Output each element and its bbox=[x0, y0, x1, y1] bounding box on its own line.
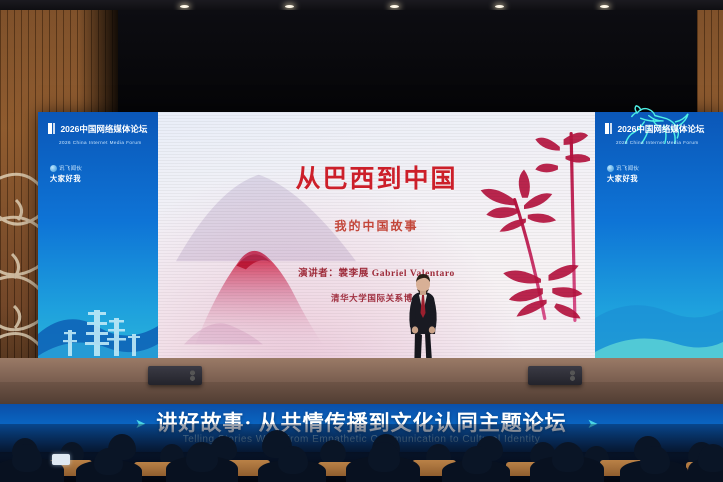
led-panel-left bbox=[38, 112, 158, 400]
led-screen: 从巴西到中国 我的中国故事 演讲者：裳李展 Gabriel Valentaro … bbox=[38, 112, 723, 400]
forum-logo-title-en: 2026 China Internet Media Forum bbox=[59, 140, 147, 145]
stage-monitor-right bbox=[528, 366, 582, 385]
slide-presenter-line: 演讲者：裳李展 Gabriel Valentaro bbox=[158, 265, 595, 279]
screenshot-root: 从巴西到中国 我的中国故事 演讲者：裳李展 Gabriel Valentaro … bbox=[0, 0, 723, 482]
slide-affiliation-line: 清华大学国际关系博士 bbox=[158, 292, 595, 304]
spotlight bbox=[180, 5, 189, 8]
sponsor-logo-right: 讯飞闻伙 大家好我 bbox=[607, 164, 639, 184]
forum-logo-title-cn: 2026中国网络媒体论坛 bbox=[60, 124, 147, 134]
sponsor-line1: 讯飞闻伙 bbox=[616, 164, 639, 172]
monitor-grill bbox=[567, 369, 578, 382]
forum-logo-title-cn: 2026中国网络媒体论坛 bbox=[617, 124, 704, 134]
forum-logo-right: 2026中国网络媒体论坛 2026 China Internet Media F… bbox=[605, 120, 704, 145]
audience-head bbox=[278, 446, 308, 474]
forum-logo-title-en: 2026 China Internet Media Forum bbox=[616, 140, 704, 145]
led-panel-right bbox=[595, 112, 723, 400]
spotlight bbox=[495, 5, 504, 8]
sponsor-line2: 大家好我 bbox=[50, 174, 82, 184]
audience-phone-screen bbox=[52, 454, 70, 465]
audience-head bbox=[320, 440, 346, 464]
audience-head bbox=[94, 448, 123, 475]
audience-head bbox=[698, 444, 723, 472]
sponsor-line2: 大家好我 bbox=[607, 174, 639, 184]
sponsor-logo-left: 讯飞闻伙 大家好我 bbox=[50, 164, 82, 184]
globe-icon bbox=[50, 165, 57, 172]
bars-logo-icon bbox=[610, 123, 612, 134]
slide-title: 从巴西到中国 bbox=[158, 159, 595, 195]
globe-icon bbox=[607, 165, 614, 172]
stage-monitor-left bbox=[148, 366, 202, 385]
bars-logo-icon bbox=[48, 123, 52, 134]
bars-logo-icon bbox=[53, 123, 55, 134]
presentation-slide: 从巴西到中国 我的中国故事 演讲者：裳李展 Gabriel Valentaro … bbox=[158, 112, 595, 400]
spotlight bbox=[285, 5, 294, 8]
spotlight bbox=[600, 5, 609, 8]
monitor-grill bbox=[187, 369, 198, 382]
sponsor-line1: 讯飞闻伙 bbox=[59, 164, 82, 172]
audience-head bbox=[368, 442, 400, 472]
audience-head bbox=[552, 442, 584, 472]
bars-logo-icon bbox=[605, 123, 609, 134]
audience-head bbox=[12, 444, 42, 472]
audience-area bbox=[0, 424, 723, 482]
audience-head bbox=[640, 446, 670, 474]
audience-head bbox=[462, 446, 492, 474]
audience-head bbox=[186, 442, 218, 472]
forum-logo-left: 2026中国网络媒体论坛 2026 China Internet Media F… bbox=[48, 120, 147, 145]
spotlight bbox=[390, 5, 399, 8]
slide-subtitle: 我的中国故事 bbox=[158, 217, 595, 234]
